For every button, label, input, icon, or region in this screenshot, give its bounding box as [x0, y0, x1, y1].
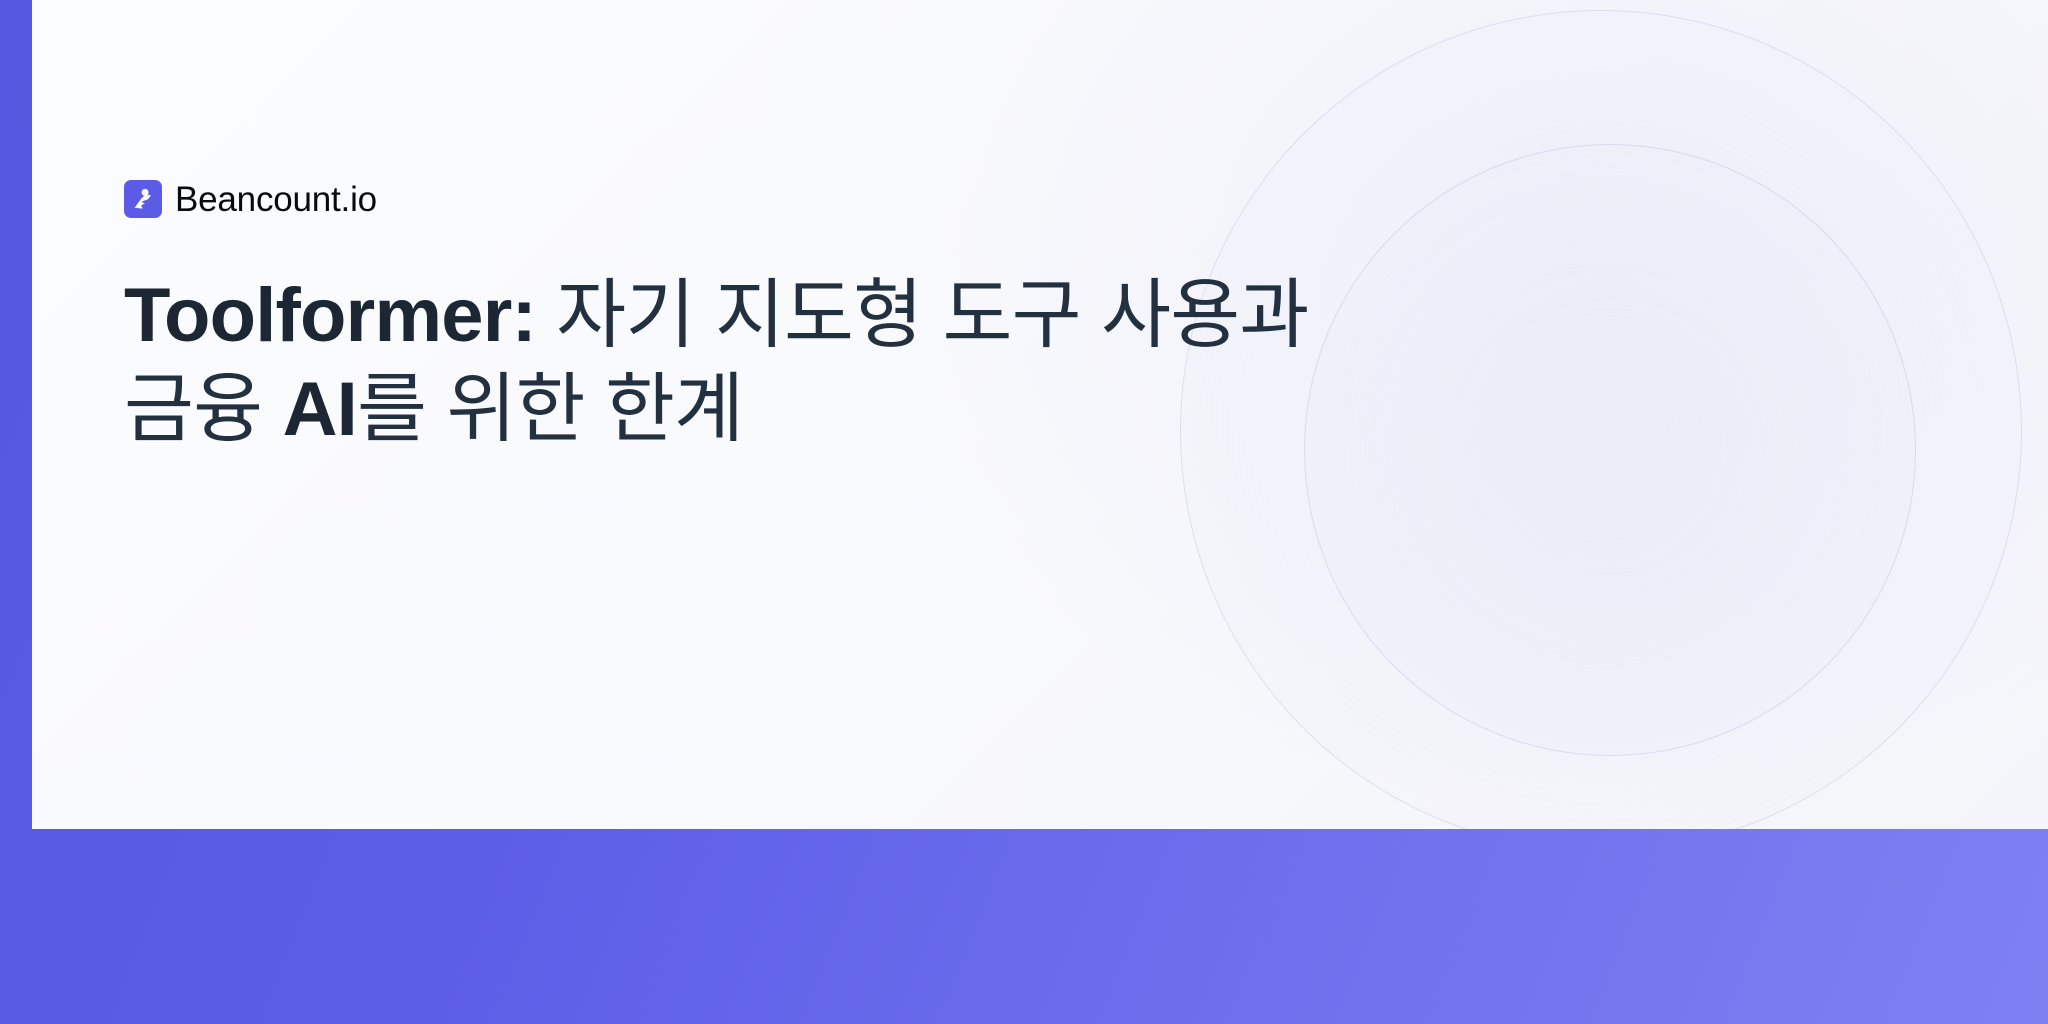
page-title-bold-lead: Toolformer:	[124, 273, 536, 358]
page-title-regular-2: 융	[193, 367, 282, 452]
content-card: Beancount.io Toolformer: 자기 지도형 도구 사용과 금…	[32, 0, 2048, 829]
brand-lockup[interactable]: Beancount.io	[124, 180, 1524, 218]
leaping-person-icon	[124, 180, 162, 218]
brand-name-label: Beancount.io	[175, 182, 377, 217]
page-title: Toolformer: 자기 지도형 도구 사용과 금융 AI를 위한 한계	[124, 269, 1454, 457]
page-title-regular-3: 를 위한 한계	[357, 367, 743, 452]
content-block: Beancount.io Toolformer: 자기 지도형 도구 사용과 금…	[124, 180, 1524, 508]
share-card-canvas: Beancount.io Toolformer: 자기 지도형 도구 사용과 금…	[0, 0, 2048, 1024]
page-title-bold-ai: AI	[283, 367, 357, 452]
